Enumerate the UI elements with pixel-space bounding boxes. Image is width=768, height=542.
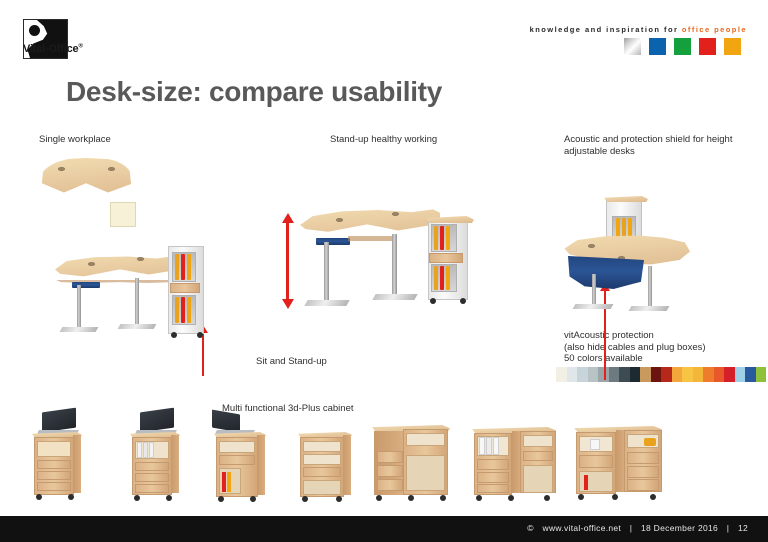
file-folder [622,218,626,238]
desk-leg-right-column [392,234,397,296]
cable-grommet-b [392,212,399,216]
cabinet-drawer [377,451,403,463]
brand-swatch-green [674,38,691,55]
brand-swatch-orange [724,38,741,55]
cabinet-drawer [303,467,341,477]
brand-swatch-blue [649,38,666,55]
figure-cabinet-4 [290,418,362,502]
cabinet-open-shelf [37,441,71,457]
file-folder [181,297,185,323]
cabinet-drawer [627,452,659,464]
figure-cabinet-5 [368,415,458,503]
acoustic-info-block: vitAcoustic protection (also hide cables… [564,330,706,365]
cabinet-open-shelf [219,441,255,453]
arrow-height-adjust-icon [286,222,289,300]
cabinet-drawer-front [429,253,463,263]
file-folder [440,226,444,250]
cabinet-drawer [135,473,169,482]
footer-page-number: 12 [738,523,748,533]
desk-leg-left-column [592,274,596,308]
cabinet-caster [218,496,224,502]
cabinet-drawer [377,465,403,477]
slide-canvas: Vital-Office® knowledge and inspiration … [0,0,768,542]
acoustic-color-swatch-2 [567,367,578,382]
cabinet-lower-compartment [303,480,341,495]
file-folder [187,297,191,323]
cabinet-caster [612,494,618,500]
footer-separator-2: | [727,523,730,533]
cabinet-caster [650,494,656,500]
footer-bar: © www.vital-office.net | 18 December 201… [0,516,768,542]
figure-sit-desk [55,240,235,345]
acoustic-color-swatch-9 [640,367,651,382]
footer-copyright: © [527,523,534,533]
figure-cabinet-3 [204,410,276,502]
file-folder [175,297,179,323]
cabinet-caster [302,496,308,502]
tagline-accent: office people [682,25,747,34]
brand-swatch-row [624,38,741,55]
desk-foot-right [118,324,157,329]
caption-acoustic-shield: Acoustic and protection shield for heigh… [564,134,749,158]
file-folder [446,226,450,250]
caption-stand-up: Stand-up healthy working [330,134,437,146]
footer-date: 18 December 2016 [641,523,718,533]
acoustic-color-swatch-18 [735,367,746,382]
cable-grommet-right [108,167,115,171]
file-folder [440,266,444,290]
acoustic-color-swatch-19 [745,367,756,382]
file-folder [187,254,191,280]
brand-swatch-red [699,38,716,55]
acoustic-color-swatch-10 [651,367,662,382]
laptop-screen-icon [140,408,174,433]
cabinet-side [257,435,265,495]
cabinet-side [343,435,351,495]
cabinet-drawer [377,479,403,491]
acoustic-color-swatch-14 [693,367,704,382]
file-folder [446,266,450,290]
cabinet-open-shelf [303,454,341,465]
cabinet-drawer [37,471,71,480]
cabinet-caster [36,494,42,500]
binder [486,437,492,455]
file-folder [434,226,438,250]
figure-cabinet-6 [468,415,564,503]
cabinet-caster [166,495,172,501]
cabinet-caster [508,495,514,501]
file-folder [584,475,588,490]
acoustic-color-swatch-13 [682,367,693,382]
file-folder [227,472,231,492]
caption-single-workplace: Single workplace [39,134,111,146]
logo-wordmark: Vital-Office® [23,43,83,55]
desk-foot-left [573,304,614,309]
cabinet-drawer-front [170,283,200,293]
desk-leg-right-column [648,266,652,308]
file-folder [628,218,632,238]
cabinet-caster [336,496,342,502]
cabinet-open-shelf [523,435,553,447]
binder [143,442,148,458]
figure-acoustic-desk [556,196,716,321]
desk-top-surface [40,158,132,200]
desk-leg-left-column [77,285,81,329]
binder [149,442,154,458]
file-folder [222,472,226,492]
acoustic-color-swatch-17 [724,367,735,382]
page-title: Desk-size: compare usability [66,76,442,108]
binder [479,437,485,455]
cabinet-caster [250,496,256,502]
desk-leg-left-column [324,242,329,302]
cabinet-caster [578,494,584,500]
file-folder [434,266,438,290]
cabinet-open-shelf [406,433,445,446]
cabinet-drawer [627,466,659,478]
cabinet-drawer [135,484,169,493]
acoustic-color-swatch-7 [619,367,630,382]
cabinet-open-compartment [406,455,445,491]
cabinet-drawer [477,484,509,493]
figure-stand-up-desk [300,200,500,318]
acoustic-color-swatch-12 [672,367,683,382]
footer-separator-1: | [630,523,633,533]
cabinet-caster [197,332,203,338]
cabinet-caster [408,495,414,501]
desk-foot-right [629,306,670,311]
cable-grommet-a [336,218,343,222]
acoustic-color-swatch-15 [703,367,714,382]
cable-grommet-a [588,244,595,248]
desk-leg-right-column [135,278,139,326]
desk-underside-rail [348,236,396,241]
footer-text: © www.vital-office.net | 18 December 201… [524,523,751,533]
brand-swatch-silver [624,38,641,55]
cable-grommet-left [58,167,65,171]
acoustic-color-swatch-4 [588,367,599,382]
caption-sit-and-stand: Sit and Stand-up [256,356,327,368]
cabinet-drawer [37,482,71,491]
logo-wordmark-text: Vital-Office [23,43,78,55]
cabinet-open-shelf [303,441,341,452]
cable-tray [316,238,350,245]
cabinet-side [171,435,179,493]
cabinet-caster [171,332,177,338]
figure-cabinet-7 [570,412,670,504]
acoustic-color-swatch-1 [556,367,567,382]
shelf-item [644,438,656,446]
cabinet-open-compartment [523,465,553,493]
acoustic-color-swatch-11 [661,367,672,382]
cabinet-caster [134,495,140,501]
cabinet-side [73,435,81,493]
cabinet-caster [68,494,74,500]
file-folder [175,254,179,280]
acoustic-color-swatch-3 [577,367,588,382]
figure-single-workplace-top-view [38,158,153,228]
cabinet-drawer [219,455,255,465]
cabinet-drawer [523,451,553,461]
cabinet-drawer [135,462,169,471]
cabinet-drawer [477,459,509,470]
desk-side-element [110,202,136,227]
desk-foot-left [304,300,349,306]
cabinet-drawer [37,460,71,469]
cabinet-caster [544,495,550,501]
binder [493,437,499,455]
tagline-main: knowledge and inspiration for [530,25,682,34]
cabinet-caster [476,495,482,501]
file-folder [616,218,620,238]
acoustic-info-line-2: (also hide cables and plug boxes) [564,342,706,354]
file-folder [181,254,185,280]
shelf-item [590,439,600,450]
figure-cabinet-2 [118,410,190,502]
binder [137,442,142,458]
footer-site[interactable]: www.vital-office.net [543,523,622,533]
figure-cabinet-1 [20,410,92,502]
cabinet-drawer [627,479,659,491]
logo-trademark: ® [78,43,82,49]
acoustic-color-strip [556,367,766,382]
acoustic-color-swatch-16 [714,367,725,382]
acoustic-color-swatch-20 [756,367,767,382]
desk-foot-right [372,294,417,300]
acoustic-shield-panel [568,256,644,289]
acoustic-info-line-3: 50 colors available [564,353,706,365]
acoustic-info-line-1: vitAcoustic protection [564,330,706,342]
cabinet-caster [460,298,466,304]
cabinet-caster [430,298,436,304]
logo-dot [29,25,40,36]
acoustic-color-swatch-6 [609,367,620,382]
brand-tagline: knowledge and inspiration for office peo… [530,25,747,34]
cabinet-drawer [579,455,613,468]
desk-foot-left [60,327,99,332]
cabinet-caster [376,495,382,501]
cable-grommet-b [137,257,144,261]
shelf-cabinet-top [604,196,648,202]
cable-grommet-a [88,262,95,266]
cabinet-drawer [477,472,509,483]
acoustic-color-swatch-8 [630,367,641,382]
laptop-screen-icon [42,408,76,433]
cabinet-caster [440,495,446,501]
